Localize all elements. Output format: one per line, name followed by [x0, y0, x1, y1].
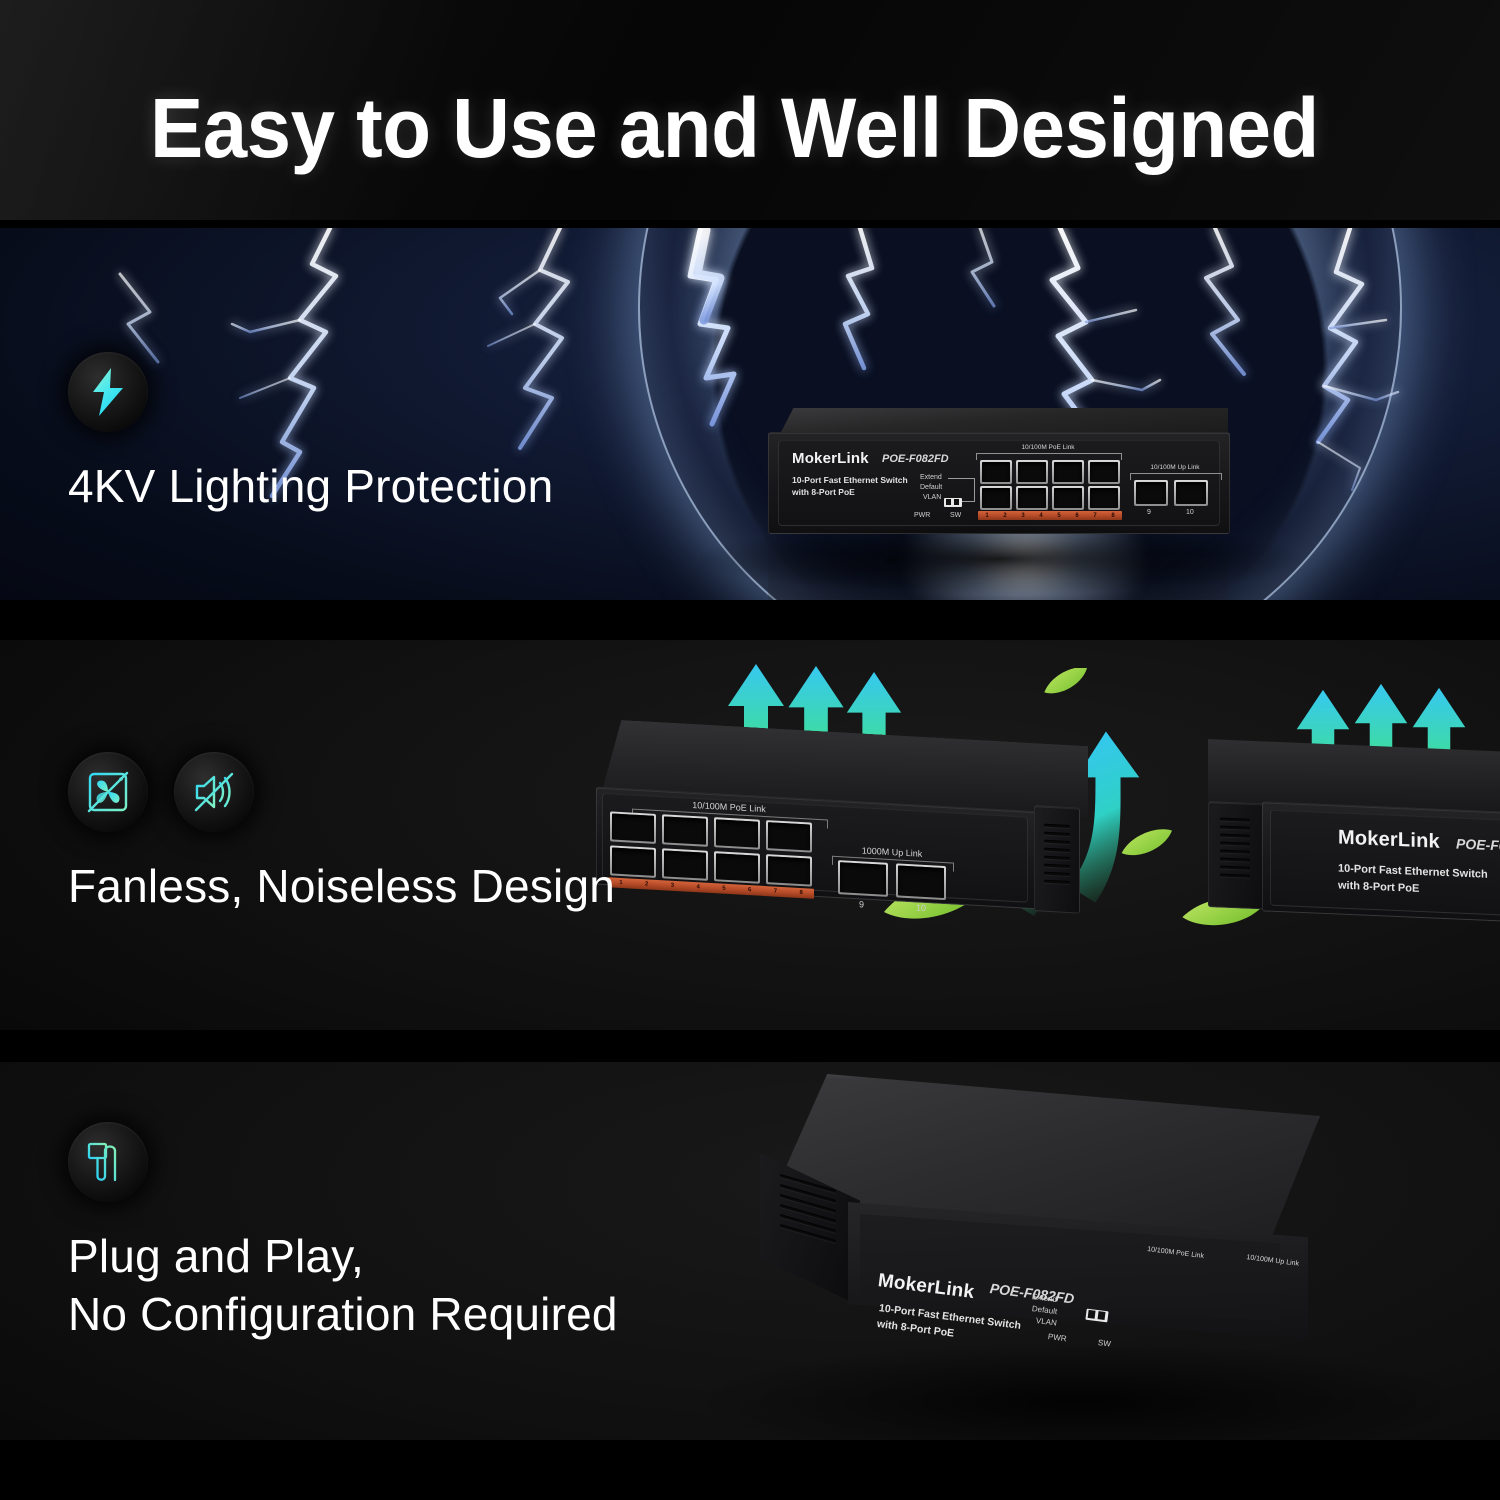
- led-number: 6: [1068, 513, 1086, 519]
- led-number: 1: [978, 513, 996, 519]
- ethernet-port: [662, 814, 708, 847]
- ethernet-port: [714, 817, 760, 850]
- product-feature-graphic: Easy to Use and Well Designed: [0, 0, 1500, 1500]
- ethernet-port: [1088, 486, 1120, 510]
- feature-icon-row: [68, 1122, 618, 1202]
- uplink-port-number-10: 10: [916, 902, 926, 913]
- ethernet-port: [610, 811, 656, 844]
- ethernet-port: [1052, 486, 1084, 510]
- led-number: 3: [660, 882, 686, 889]
- led-number: 6: [737, 886, 763, 893]
- ethernet-port: [1016, 460, 1048, 484]
- ethernet-port: [1088, 460, 1120, 484]
- network-switch-device: MokerLink POE-F082FD 10-Port Fast Ethern…: [768, 408, 1228, 538]
- led-number: 8: [1104, 513, 1122, 519]
- led-number: 4: [685, 884, 711, 891]
- leaf-icon: [1040, 668, 1092, 694]
- indicator-label-pwr: PWR: [1047, 1332, 1067, 1343]
- uplink-port-10: [1174, 480, 1208, 506]
- network-switch-device: MokerLink POE-F082FD 10-Port Fast Ethern…: [760, 1074, 1320, 1404]
- uplink-port-number-9: 9: [1147, 509, 1151, 516]
- device-description: 10-Port Fast Ethernet Switch with 8-Port…: [792, 474, 908, 499]
- device-brand: MokerLink: [1338, 827, 1440, 854]
- led-number: 2: [996, 513, 1014, 519]
- port-led-strip: 1 2 3 4 5 6 7 8: [978, 511, 1122, 520]
- uplink-bracket: [1130, 473, 1222, 480]
- feature-icon-row: [68, 352, 553, 432]
- uplink-group-label: 10/100M Up Link: [1132, 464, 1218, 471]
- ethernet-port: [610, 845, 656, 878]
- header-banner: Easy to Use and Well Designed: [0, 0, 1500, 220]
- dip-label-vlan: VLAN: [1035, 1316, 1057, 1328]
- ethernet-port: [980, 460, 1012, 484]
- network-switch-device: MokerLink POE-F082FD 10-Port Fast Ethern…: [1208, 793, 1500, 947]
- dip-label-extend: Extend: [920, 474, 942, 481]
- device-brand: MokerLink: [792, 450, 869, 467]
- uplink-port-10: [896, 863, 946, 900]
- led-number: 2: [634, 881, 660, 888]
- indicator-label-sw: SW: [1097, 1338, 1111, 1349]
- indicator-label-pwr: PWR: [914, 512, 930, 519]
- device-floor-shadow: [700, 524, 1300, 594]
- uplink-port-number-9: 9: [859, 899, 864, 909]
- device-description: 10-Port Fast Ethernet Switch with 8-Port…: [1338, 861, 1488, 900]
- poe-link-bracket: [976, 453, 1122, 460]
- dip-label-default: Default: [920, 484, 942, 491]
- led-number: 8: [788, 889, 814, 896]
- feature-icon-row: [68, 752, 615, 832]
- feature-fanless-noiseless: Fanless, Noiseless Design: [68, 752, 615, 916]
- uplink-port-number-10: 10: [1186, 509, 1194, 516]
- feature-label: 4KV Lighting Protection: [68, 458, 553, 516]
- ethernet-port: [766, 854, 812, 887]
- feature-lightning-protection: 4KV Lighting Protection: [68, 352, 553, 516]
- leaf-icon: [1118, 828, 1176, 858]
- uplink-port-9: [838, 860, 888, 897]
- lightning-bolt-icon: [68, 352, 148, 432]
- ethernet-port: [766, 820, 812, 853]
- feature-label: Fanless, Noiseless Design: [68, 858, 615, 916]
- ethernet-port: [714, 851, 760, 884]
- indicator-label-sw: SW: [950, 512, 961, 519]
- uplink-port-9: [1134, 480, 1168, 506]
- dip-switch: [944, 498, 962, 507]
- led-number: 5: [711, 885, 737, 892]
- led-number: 7: [763, 888, 789, 895]
- network-switch-device: 10/100M PoE Link 1 2 3 4 5 6 7 8 1000M U…: [596, 777, 1076, 944]
- no-fan-icon: [68, 752, 148, 832]
- feature-plug-and-play: Plug and Play, No Configuration Required: [68, 1122, 618, 1344]
- led-number: 7: [1086, 513, 1104, 519]
- device-side-vents: [1044, 824, 1070, 884]
- device-side-vents: [1220, 818, 1250, 878]
- dip-label-vlan: VLAN: [923, 494, 941, 501]
- feature-label: Plug and Play, No Configuration Required: [68, 1228, 618, 1344]
- mute-speaker-icon: [174, 752, 254, 832]
- poe-link-group-label: 10/100M PoE Link: [978, 444, 1118, 451]
- device-top-surface: [780, 408, 1228, 434]
- led-number: 5: [1050, 513, 1068, 519]
- page-title: Easy to Use and Well Designed: [150, 86, 1319, 170]
- led-number: 4: [1032, 513, 1050, 519]
- device-model: POE-F082FD: [882, 453, 949, 465]
- led-number: 3: [1014, 513, 1032, 519]
- ethernet-port: [980, 486, 1012, 510]
- ethernet-port: [1052, 460, 1084, 484]
- ethernet-port: [1016, 486, 1048, 510]
- ethernet-port: [662, 848, 708, 881]
- rj45-cable-icon: [68, 1122, 148, 1202]
